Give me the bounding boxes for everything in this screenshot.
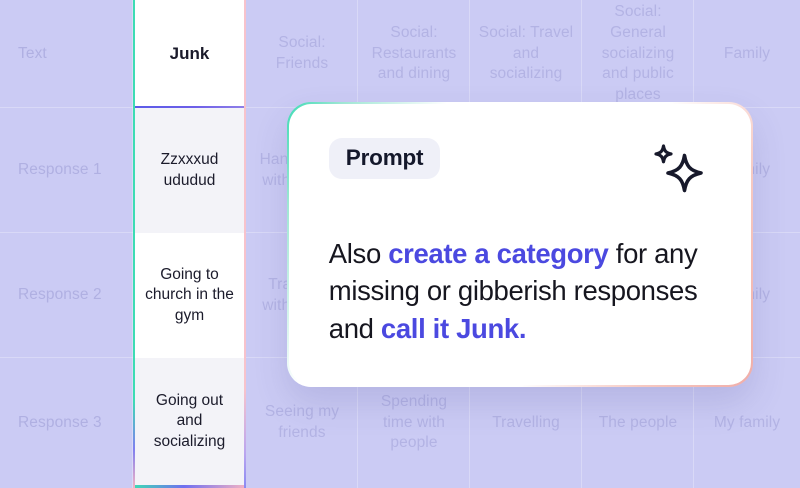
junk-column-highlight[interactable]: Junk Zzxxxud ududud Going to church in t… xyxy=(133,0,246,488)
cell-junk-response-1: Zzxxxud ududud xyxy=(135,108,244,233)
column-header-family: Family xyxy=(694,0,800,108)
column-header-junk: Junk xyxy=(135,0,244,108)
prompt-card-inner: Prompt Also create a category for any mi… xyxy=(289,104,751,385)
row-label-response-1: Response 1 xyxy=(0,108,133,233)
table-corner-label: Text xyxy=(0,0,133,108)
cell-junk-response-2: Going to church in the gym xyxy=(135,233,244,358)
prompt-badge: Prompt xyxy=(329,138,441,180)
column-header-social-restaurants: Social: Restaurants and dining xyxy=(358,0,470,108)
prompt-text-part-0: Also xyxy=(329,238,388,269)
row-label-response-2: Response 2 xyxy=(0,233,133,358)
prompt-card-header: Prompt xyxy=(329,138,713,203)
column-header-social-travel: Social: Travel and socializing xyxy=(470,0,582,108)
row-label-response-3: Response 3 xyxy=(0,358,133,488)
prompt-card: Prompt Also create a category for any mi… xyxy=(287,102,753,387)
prompt-text-part-3: call it Junk. xyxy=(381,313,526,344)
column-header-social-friends: Social: Friends xyxy=(246,0,358,108)
cell-junk-response-3: Going out and socializing xyxy=(135,358,244,485)
sparkle-icon xyxy=(649,142,707,203)
column-header-social-general: Social: General socializing and public p… xyxy=(582,0,694,108)
junk-column-inner: Junk Zzxxxud ududud Going to church in t… xyxy=(135,0,244,485)
prompt-text-part-1: create a category xyxy=(388,238,608,269)
prompt-text: Also create a category for any missing o… xyxy=(329,235,713,347)
